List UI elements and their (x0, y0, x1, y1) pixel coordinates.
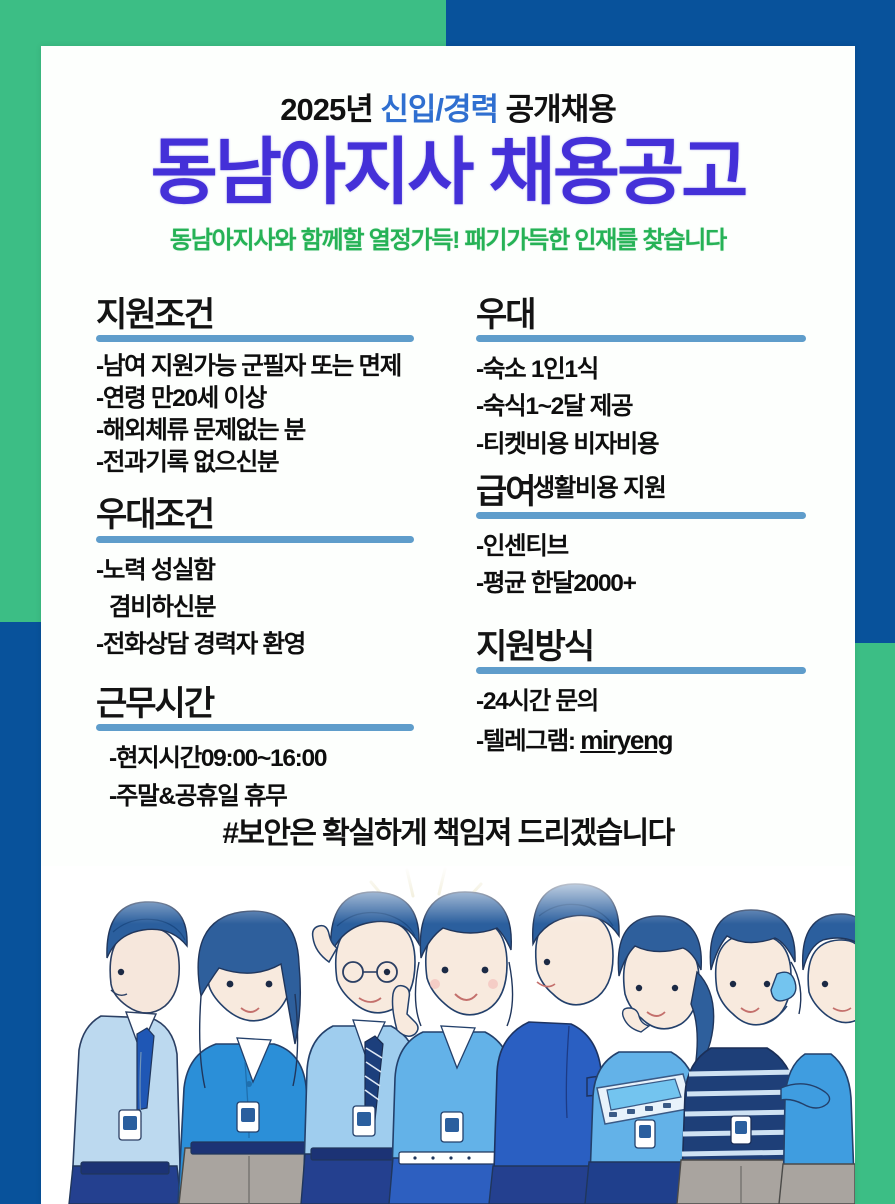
content-columns: 지원조건 -남여 지원가능 군필자 또는 면제 -연령 만20세 이상 -해외체… (41, 296, 855, 819)
section-rule (476, 512, 806, 519)
eyebrow-prefix: 2025년 (280, 92, 380, 127)
list-item: -전과기록 없으신분 (96, 447, 436, 479)
section-header: 우대 (476, 296, 843, 334)
list-item: -연령 만20세 이상 (96, 383, 436, 415)
list-item: -숙소 1인1식 (476, 351, 843, 388)
section-items: -24시간 문의 -텔레그램: miryeng (476, 683, 843, 760)
section-working-hours: 근무시간 -현지시간09:00~16:00 -주말&공휴일 휴무 (96, 685, 436, 815)
section-title: 지원방식 (476, 628, 593, 666)
section-header: 지원조건 (96, 296, 436, 334)
section-title: 우대 (476, 296, 535, 334)
page-title: 동남아지사 채용공고 (41, 135, 855, 212)
section-rule (476, 335, 806, 342)
section-header-note: 생활비용 지원 (533, 475, 666, 502)
list-item: -남여 지원가능 군필자 또는 면제 (96, 351, 436, 383)
list-item: -티켓비용 비자비용 (476, 426, 843, 463)
list-item: -인센티브 (476, 528, 843, 565)
list-item: 겸비하신분 (96, 589, 436, 626)
section-items: -남여 지원가능 군필자 또는 면제 -연령 만20세 이상 -해외체류 문제없… (96, 351, 436, 478)
section-items: -숙소 1인1식 -숙식1~2달 제공 -티켓비용 비자비용 (476, 351, 843, 463)
left-column: 지원조건 -남여 지원가능 군필자 또는 면제 -연령 만20세 이상 -해외체… (41, 296, 448, 819)
list-item: -숙식1~2달 제공 (476, 388, 843, 425)
section-rule (96, 335, 414, 342)
section-title: 근무시간 (96, 685, 213, 723)
contact-line: -텔레그램: miryeng (476, 721, 843, 761)
section-header: 지원방식 (476, 628, 843, 666)
contact-label: -텔레그램: (476, 728, 580, 755)
section-rule (476, 667, 806, 674)
telegram-handle[interactable]: miryeng (580, 725, 672, 755)
list-item: -해외체류 문제없는 분 (96, 415, 436, 447)
list-item: -24시간 문의 (476, 683, 843, 720)
eyebrow-line: 2025년 신입/경력 공개채용 (41, 84, 855, 129)
list-item: -현지시간09:00~16:00 (96, 740, 436, 777)
section-how-to-apply: 지원방식 -24시간 문의 -텔레그램: miryeng (476, 628, 843, 760)
list-item: -노력 성실함 (96, 552, 436, 589)
eyebrow-suffix: 공개채용 (498, 92, 616, 127)
section-items: -노력 성실함 겸비하신분 -전화상담 경력자 환영 (96, 552, 436, 664)
section-items: -현지시간09:00~16:00 -주말&공휴일 휴무 (96, 740, 436, 814)
security-tagline: #보안은 확실하게 책임져 드리겠습니다 (41, 808, 855, 852)
section-title: 우대조건 (96, 496, 213, 534)
section-header: 근무시간 (96, 685, 436, 723)
section-header: 급여생활비용 지원 (476, 473, 843, 511)
section-items: -인센티브 -평균 한달2000+ (476, 528, 843, 602)
section-header: 우대조건 (96, 496, 436, 534)
section-title: 급여 (476, 473, 535, 511)
eyebrow-highlight: 신입/경력 (380, 92, 498, 127)
poster-card: 2025년 신입/경력 공개채용 동남아지사 채용공고 동남아지사와 함께할 열… (41, 46, 855, 1204)
section-preferred-qualifications: 우대조건 -노력 성실함 겸비하신분 -전화상담 경력자 환영 (96, 496, 436, 663)
right-column: 우대 -숙소 1인1식 -숙식1~2달 제공 -티켓비용 비자비용 급여생활비용… (448, 296, 855, 819)
section-benefits: 우대 -숙소 1인1식 -숙식1~2달 제공 -티켓비용 비자비용 (476, 296, 843, 463)
section-salary: 급여생활비용 지원 -인센티브 -평균 한달2000+ (476, 473, 843, 603)
section-rule (96, 724, 414, 731)
list-item: -전화상담 경력자 환영 (96, 626, 436, 663)
page-subtitle: 동남아지사와 함께할 열정가득! 패기가득한 인재를 찾습니다 (41, 220, 855, 255)
section-rule (96, 536, 414, 543)
list-item: -평균 한달2000+ (476, 565, 843, 602)
section-title: 지원조건 (96, 296, 213, 334)
recruitment-poster: 2025년 신입/경력 공개채용 동남아지사 채용공고 동남아지사와 함께할 열… (0, 0, 895, 1204)
section-qualifications: 지원조건 -남여 지원가능 군필자 또는 면제 -연령 만20세 이상 -해외체… (96, 296, 436, 478)
office-team-illustration (41, 866, 855, 1204)
